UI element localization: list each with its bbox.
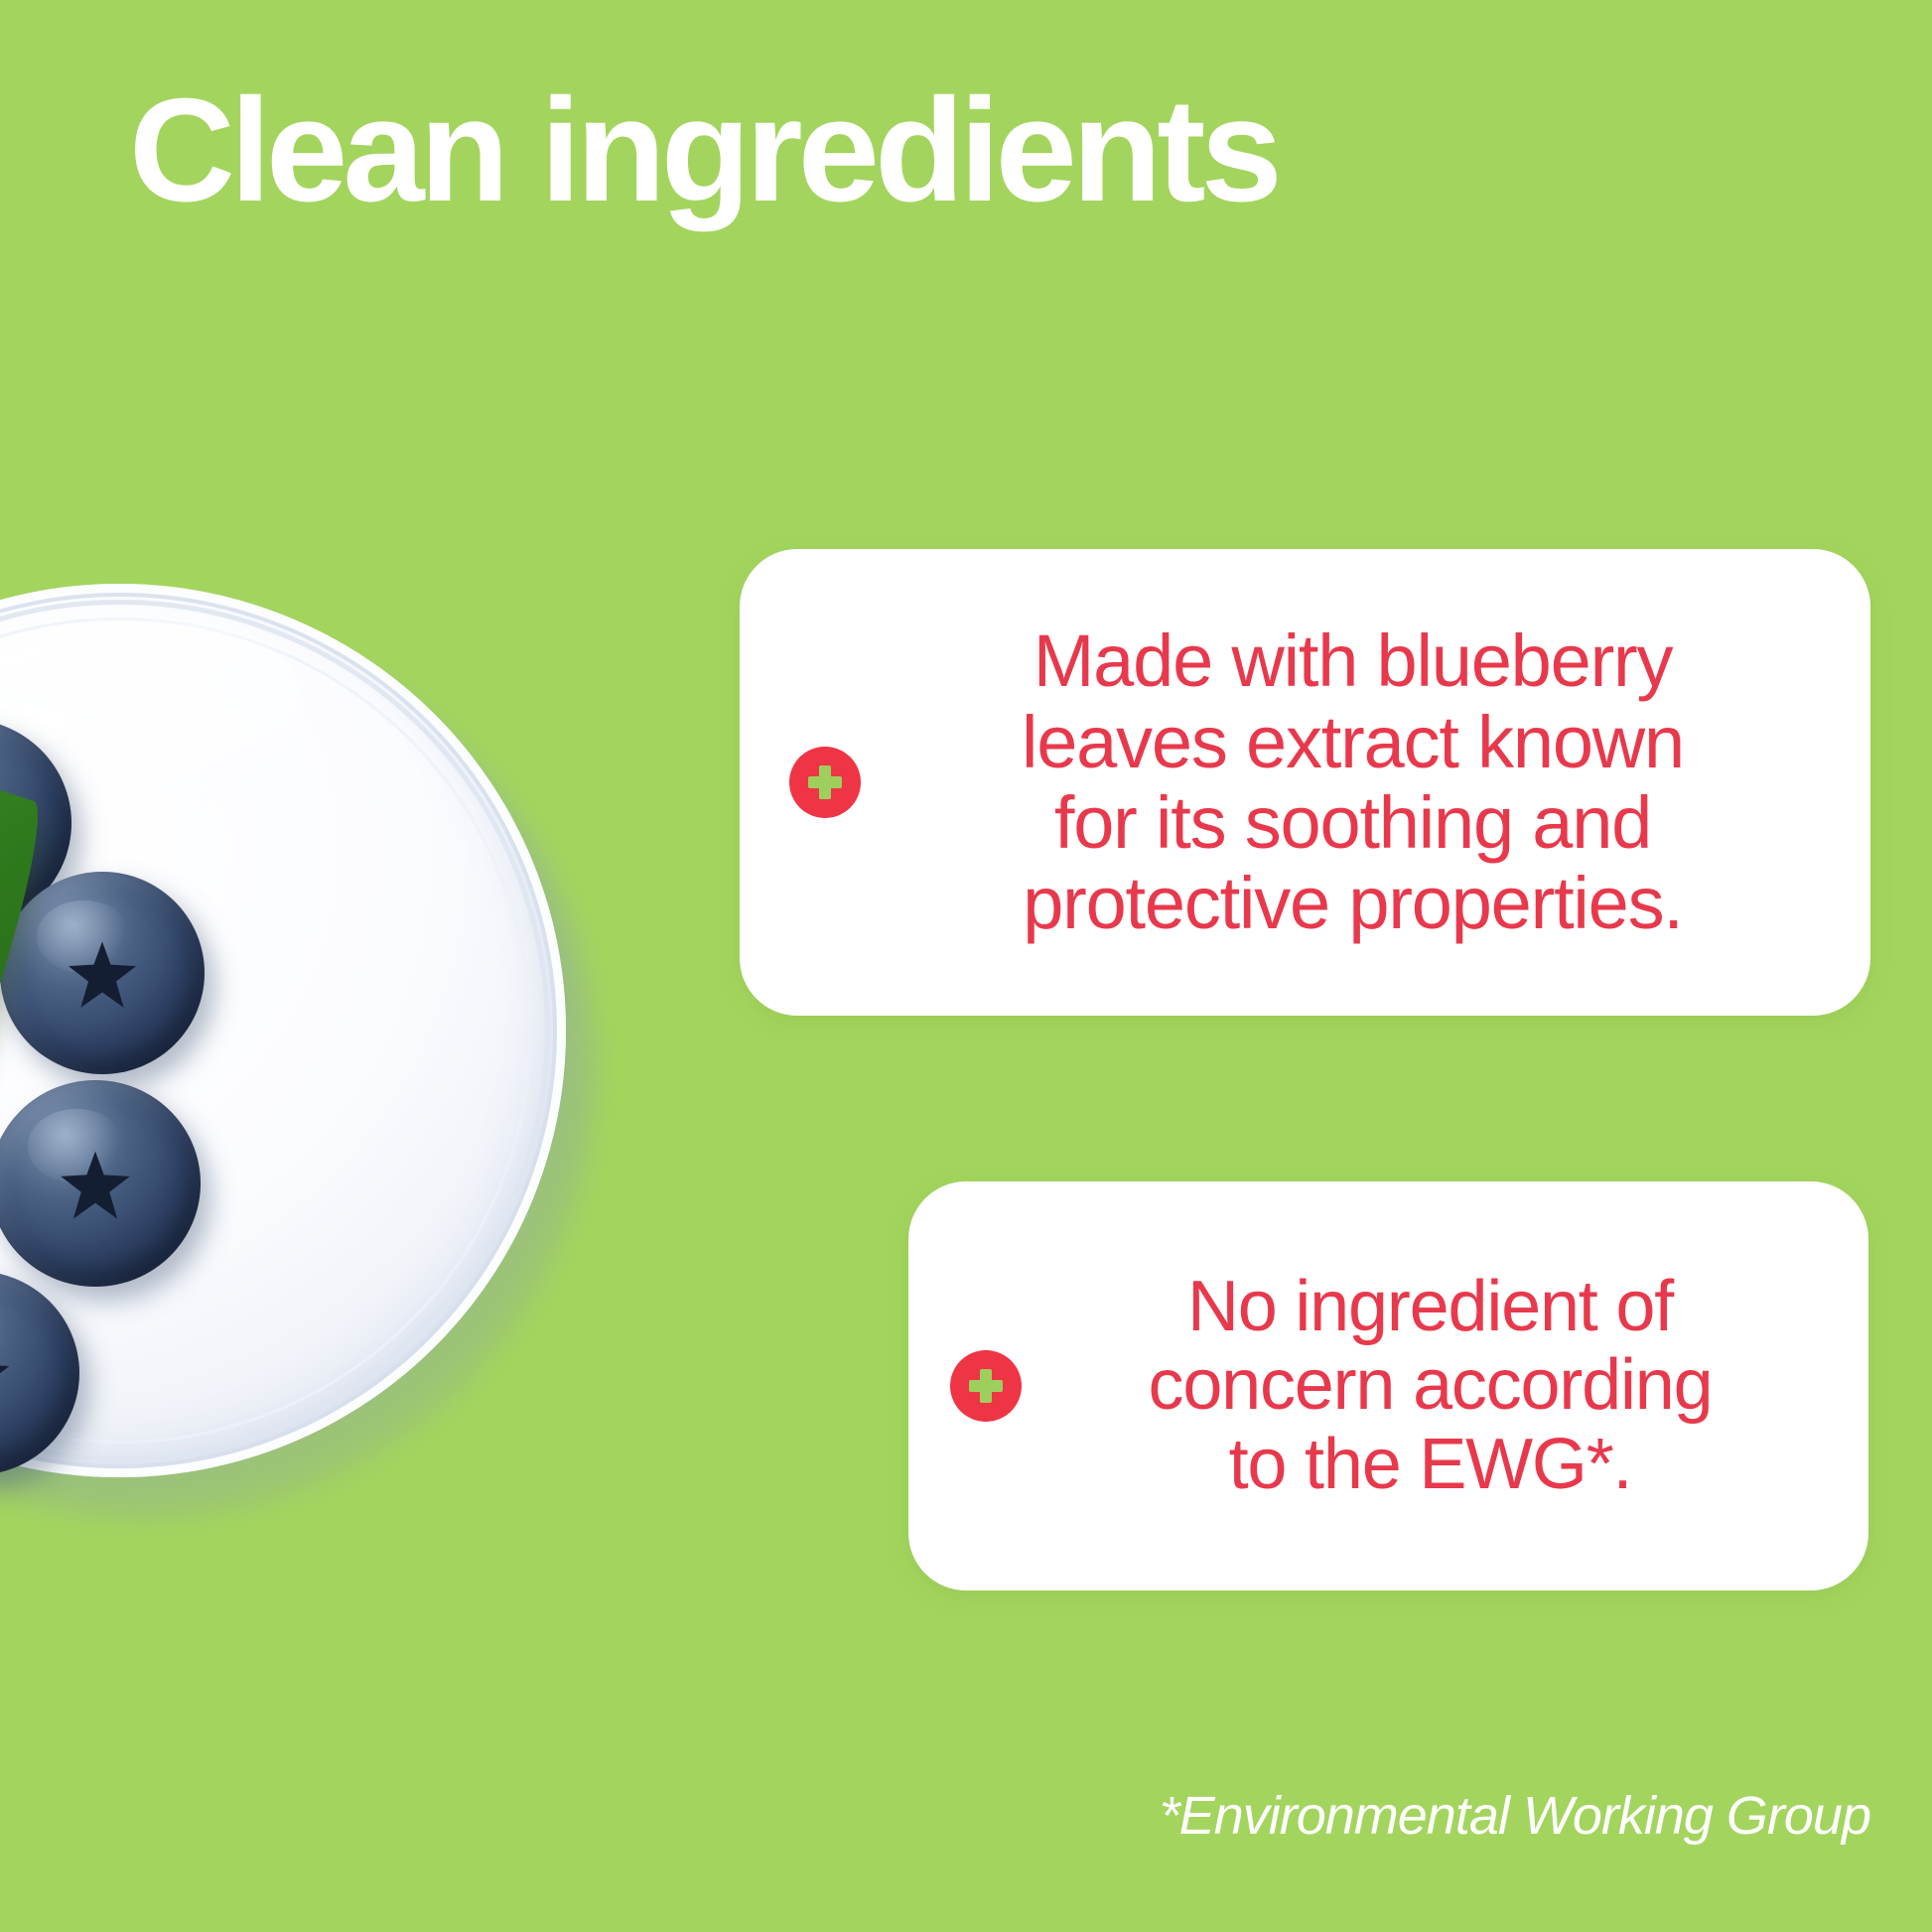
blueberry [0,872,205,1074]
blueberry-calyx-star-icon [64,938,141,1016]
product-photo [0,584,625,1537]
benefit-card-text: No ingredient of concern according to th… [1022,1268,1868,1504]
blueberry [0,1080,201,1287]
footnote: *Environmental Working Group [1160,1785,1870,1847]
plus-badge [789,747,861,818]
plus-icon [967,1367,1005,1405]
benefit-card-text: Made with blueberry leaves extract known… [861,621,1870,944]
benefit-card-ewg: No ingredient of concern according to th… [908,1181,1868,1590]
plus-badge [950,1350,1022,1422]
blueberry-calyx-star-icon [56,1149,136,1227]
page-title: Clean ingredients [129,77,1278,224]
plus-icon [806,763,844,801]
benefit-card-ingredient: Made with blueberry leaves extract known… [740,549,1870,1016]
promo-graphic: Clean ingredients [0,0,1932,1932]
blueberry-calyx-star-icon [0,1338,15,1416]
